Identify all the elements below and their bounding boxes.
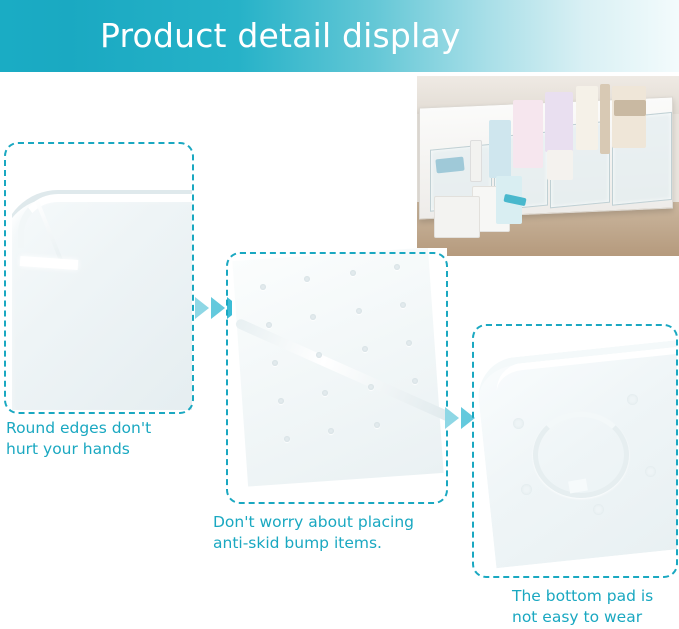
rounded-edge-closeup-photo	[12, 150, 192, 410]
stationery-item	[612, 86, 646, 148]
anti-skid-bump-tray-photo	[232, 248, 447, 500]
bottom-pad-dot	[627, 394, 638, 405]
caption-bottom-pad: The bottom pad is not easy to wear	[512, 586, 653, 628]
anti-skid-bump	[328, 428, 334, 434]
anti-skid-bump	[272, 360, 278, 366]
anti-skid-bump	[304, 276, 310, 282]
bottom-pad-closeup-photo	[477, 320, 677, 578]
stationery-item	[576, 86, 598, 150]
page-title: Product detail display	[100, 12, 461, 60]
stationery-item	[600, 84, 610, 154]
stationery-item	[547, 150, 573, 180]
stationery-item	[435, 157, 464, 174]
anti-skid-bump	[284, 436, 290, 442]
anti-skid-bump	[316, 352, 322, 358]
caption-round-edges: Round edges don't hurt your hands	[6, 418, 151, 460]
header-banner: Product detail display	[0, 0, 679, 72]
bottom-pad-dot	[513, 418, 524, 429]
bottom-pad-dot	[645, 466, 656, 477]
stationery-item	[470, 140, 482, 182]
anti-skid-bump	[356, 308, 362, 314]
caption-anti-skid: Don't worry about placing anti-skid bump…	[213, 512, 414, 554]
anti-skid-bump	[400, 302, 406, 308]
stationery-item	[614, 100, 646, 116]
stationery-item	[489, 120, 511, 178]
anti-skid-bump	[278, 398, 284, 404]
anti-skid-bump	[322, 390, 328, 396]
anti-skid-bump	[374, 422, 380, 428]
anti-skid-bump	[412, 378, 418, 384]
product-detail-infographic: Product detail display Round edges don't…	[0, 0, 679, 629]
anti-skid-bump	[368, 384, 374, 390]
anti-skid-bump	[260, 284, 266, 290]
anti-skid-bump	[406, 340, 412, 346]
anti-skid-bump	[394, 264, 400, 270]
bottom-pad-dot	[593, 504, 604, 515]
stationery-item	[434, 196, 480, 238]
stationery-item	[513, 100, 543, 168]
anti-skid-bump	[350, 270, 356, 276]
anti-skid-bump	[362, 346, 368, 352]
anti-skid-bump	[310, 314, 316, 320]
stationery-item	[545, 92, 573, 152]
anti-skid-bump	[266, 322, 272, 328]
bottom-pad-dot	[521, 484, 532, 495]
